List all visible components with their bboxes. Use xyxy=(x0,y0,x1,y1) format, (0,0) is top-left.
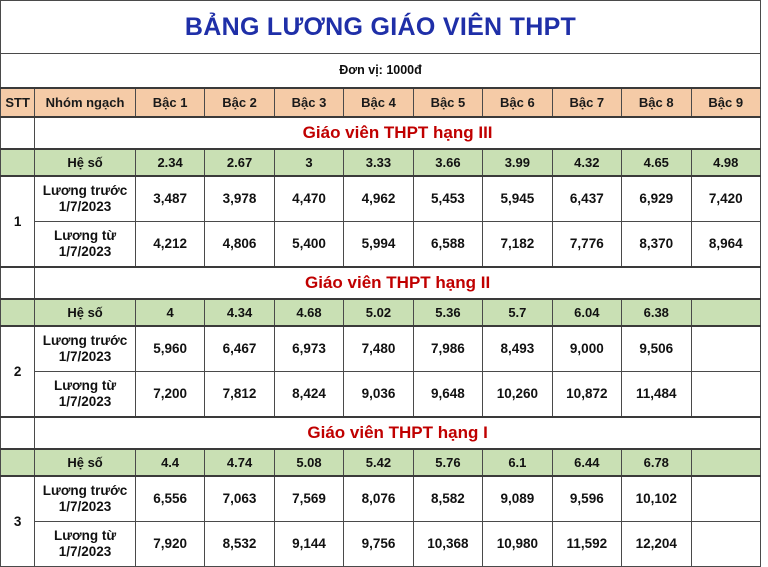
section-title: Giáo viên THPT hạng II xyxy=(35,267,761,299)
row-label-before: Lương trước1/7/2023 xyxy=(35,326,136,372)
salary-cell[interactable]: 10,260 xyxy=(483,372,552,418)
coefficient-cell-empty[interactable] xyxy=(691,449,761,476)
salary-cell[interactable]: 7,200 xyxy=(135,372,204,418)
coefficient-cell[interactable]: 5.36 xyxy=(413,299,482,326)
salary-cell[interactable]: 5,400 xyxy=(274,222,343,268)
row-label-before: Lương trước1/7/2023 xyxy=(35,476,136,522)
salary-cell[interactable]: 7,480 xyxy=(344,326,413,372)
salary-cell[interactable]: 6,973 xyxy=(274,326,343,372)
salary-cell[interactable]: 9,036 xyxy=(344,372,413,418)
column-header-bc-4[interactable]: Bậc 4 xyxy=(344,88,413,117)
salary-cell[interactable]: 4,470 xyxy=(274,176,343,222)
salary-after-row: Lương từ1/7/20234,2124,8065,4005,9946,58… xyxy=(1,222,761,268)
section-title: Giáo viên THPT hạng III xyxy=(35,117,761,149)
salary-cell[interactable]: 4,962 xyxy=(344,176,413,222)
coefficient-cell[interactable]: 4.4 xyxy=(135,449,204,476)
column-header-bc-8[interactable]: Bậc 8 xyxy=(622,88,691,117)
coefficient-cell[interactable]: 4.65 xyxy=(622,149,691,176)
salary-cell[interactable]: 11,592 xyxy=(552,522,621,567)
column-header-bc-1[interactable]: Bậc 1 xyxy=(135,88,204,117)
salary-cell[interactable]: 4,806 xyxy=(205,222,274,268)
salary-cell[interactable]: 5,453 xyxy=(413,176,482,222)
coefficient-cell[interactable]: 2.34 xyxy=(135,149,204,176)
salary-cell-empty[interactable] xyxy=(691,476,761,522)
salary-cell[interactable]: 7,063 xyxy=(205,476,274,522)
coefficient-cell[interactable]: 6.38 xyxy=(622,299,691,326)
coefficient-cell[interactable]: 4.74 xyxy=(205,449,274,476)
section-title-text: Giáo viên THPT hạng III xyxy=(35,119,760,147)
salary-cell[interactable]: 8,582 xyxy=(413,476,482,522)
column-header-bc-5[interactable]: Bậc 5 xyxy=(413,88,482,117)
row-label-before: Lương trước1/7/2023 xyxy=(35,176,136,222)
salary-cell[interactable]: 5,994 xyxy=(344,222,413,268)
salary-cell-empty[interactable] xyxy=(691,326,761,372)
salary-cell[interactable]: 5,960 xyxy=(135,326,204,372)
coefficient-row: Hệ số2.342.6733.333.663.994.324.654.98 xyxy=(1,149,761,176)
coefficient-cell[interactable]: 5.02 xyxy=(344,299,413,326)
salary-cell[interactable]: 8,532 xyxy=(205,522,274,567)
salary-cell[interactable]: 7,920 xyxy=(135,522,204,567)
coefficient-cell[interactable]: 6.78 xyxy=(622,449,691,476)
row-label-after: Lương từ1/7/2023 xyxy=(35,372,136,418)
coefficient-cell[interactable]: 6.1 xyxy=(483,449,552,476)
salary-cell[interactable]: 7,986 xyxy=(413,326,482,372)
column-header-bc-6[interactable]: Bậc 6 xyxy=(483,88,552,117)
salary-after-row: Lương từ1/7/20237,2007,8128,4249,0369,64… xyxy=(1,372,761,418)
column-header-bc-7[interactable]: Bậc 7 xyxy=(552,88,621,117)
row-number: 3 xyxy=(1,476,35,567)
stt-spacer xyxy=(1,267,35,299)
salary-cell[interactable]: 11,484 xyxy=(622,372,691,418)
row-label-coefficient: Hệ số xyxy=(35,449,136,476)
section-title-text: Giáo viên THPT hạng I xyxy=(35,419,760,447)
salary-cell[interactable]: 9,596 xyxy=(552,476,621,522)
salary-cell[interactable]: 6,588 xyxy=(413,222,482,268)
coefficient-cell[interactable]: 6.04 xyxy=(552,299,621,326)
unit-row: Đơn vị: 1000đ xyxy=(1,54,761,89)
coefficient-cell[interactable]: 2.67 xyxy=(205,149,274,176)
salary-cell[interactable]: 6,929 xyxy=(622,176,691,222)
coefficient-cell[interactable]: 4.32 xyxy=(552,149,621,176)
section-title-text: Giáo viên THPT hạng II xyxy=(35,269,760,297)
stt-spacer xyxy=(1,417,35,449)
coefficient-cell[interactable]: 5.7 xyxy=(483,299,552,326)
salary-cell[interactable]: 7,182 xyxy=(483,222,552,268)
page-title-text: BẢNG LƯƠNG GIÁO VIÊN THPT xyxy=(1,1,760,53)
salary-before-row: 2Lương trước1/7/20235,9606,4676,9737,480… xyxy=(1,326,761,372)
salary-cell[interactable]: 9,000 xyxy=(552,326,621,372)
salary-cell[interactable]: 3,978 xyxy=(205,176,274,222)
row-label-coefficient: Hệ số xyxy=(35,299,136,326)
column-header-stt[interactable]: STT xyxy=(1,88,35,117)
page-title: BẢNG LƯƠNG GIÁO VIÊN THPT xyxy=(1,1,761,54)
salary-cell[interactable]: 10,872 xyxy=(552,372,621,418)
coefficient-cell[interactable]: 4.34 xyxy=(205,299,274,326)
salary-cell[interactable]: 8,370 xyxy=(622,222,691,268)
salary-cell[interactable]: 9,648 xyxy=(413,372,482,418)
coefficient-row: Hệ số4.44.745.085.425.766.16.446.78 xyxy=(1,449,761,476)
salary-cell-empty[interactable] xyxy=(691,522,761,567)
title-row: BẢNG LƯƠNG GIÁO VIÊN THPT xyxy=(1,1,761,54)
salary-cell[interactable]: 7,812 xyxy=(205,372,274,418)
salary-after-row: Lương từ1/7/20237,9208,5329,1449,75610,3… xyxy=(1,522,761,567)
section-title-row: Giáo viên THPT hạng II xyxy=(1,267,761,299)
coefficient-cell[interactable]: 5.76 xyxy=(413,449,482,476)
section-title-row: Giáo viên THPT hạng III xyxy=(1,117,761,149)
salary-table: BẢNG LƯƠNG GIÁO VIÊN THPTĐơn vị: 1000đST… xyxy=(0,0,761,567)
unit-note: Đơn vị: 1000đ xyxy=(1,54,761,89)
salary-before-row: 3Lương trước1/7/20236,5567,0637,5698,076… xyxy=(1,476,761,522)
coefficient-cell[interactable]: 4 xyxy=(135,299,204,326)
table-header-row: STTNhóm ngạchBậc 1Bậc 2Bậc 3Bậc 4Bậc 5Bậ… xyxy=(1,88,761,117)
section-title-row: Giáo viên THPT hạng I xyxy=(1,417,761,449)
coefficient-row: Hệ số44.344.685.025.365.76.046.38 xyxy=(1,299,761,326)
salary-cell[interactable]: 7,420 xyxy=(691,176,761,222)
salary-cell[interactable]: 4,212 xyxy=(135,222,204,268)
salary-cell[interactable]: 12,204 xyxy=(622,522,691,567)
coefficient-cell[interactable]: 5.42 xyxy=(344,449,413,476)
coefficient-cell[interactable]: 5.08 xyxy=(274,449,343,476)
salary-cell[interactable]: 9,144 xyxy=(274,522,343,567)
column-header-bc-3[interactable]: Bậc 3 xyxy=(274,88,343,117)
salary-cell[interactable]: 8,076 xyxy=(344,476,413,522)
stt-spacer xyxy=(1,449,35,476)
stt-spacer xyxy=(1,117,35,149)
salary-cell[interactable]: 9,089 xyxy=(483,476,552,522)
coefficient-cell[interactable]: 4.68 xyxy=(274,299,343,326)
column-header-bc-2[interactable]: Bậc 2 xyxy=(205,88,274,117)
coefficient-cell-empty[interactable] xyxy=(691,299,761,326)
salary-cell[interactable]: 10,102 xyxy=(622,476,691,522)
salary-cell[interactable]: 8,964 xyxy=(691,222,761,268)
salary-cell[interactable]: 10,980 xyxy=(483,522,552,567)
salary-cell-empty[interactable] xyxy=(691,372,761,418)
salary-cell[interactable]: 3,487 xyxy=(135,176,204,222)
column-header-nhm-ngch[interactable]: Nhóm ngạch xyxy=(35,88,136,117)
coefficient-cell[interactable]: 3.33 xyxy=(344,149,413,176)
salary-cell[interactable]: 5,945 xyxy=(483,176,552,222)
row-label-after: Lương từ1/7/2023 xyxy=(35,222,136,268)
unit-note-text: Đơn vị: 1000đ xyxy=(339,63,422,77)
salary-cell[interactable]: 8,493 xyxy=(483,326,552,372)
coefficient-cell[interactable]: 6.44 xyxy=(552,449,621,476)
salary-cell[interactable]: 8,424 xyxy=(274,372,343,418)
salary-cell[interactable]: 6,556 xyxy=(135,476,204,522)
salary-cell[interactable]: 10,368 xyxy=(413,522,482,567)
coefficient-cell[interactable]: 3.99 xyxy=(483,149,552,176)
stt-spacer xyxy=(1,299,35,326)
section-title: Giáo viên THPT hạng I xyxy=(35,417,761,449)
salary-cell[interactable]: 6,467 xyxy=(205,326,274,372)
stt-spacer xyxy=(1,149,35,176)
salary-before-row: 1Lương trước1/7/20233,4873,9784,4704,962… xyxy=(1,176,761,222)
coefficient-cell[interactable]: 3 xyxy=(274,149,343,176)
row-label-coefficient: Hệ số xyxy=(35,149,136,176)
row-number: 1 xyxy=(1,176,35,267)
column-header-bc-9[interactable]: Bậc 9 xyxy=(691,88,761,117)
salary-cell[interactable]: 7,776 xyxy=(552,222,621,268)
salary-cell[interactable]: 9,506 xyxy=(622,326,691,372)
row-label-after: Lương từ1/7/2023 xyxy=(35,522,136,567)
coefficient-cell[interactable]: 3.66 xyxy=(413,149,482,176)
coefficient-cell[interactable]: 4.98 xyxy=(691,149,761,176)
salary-cell[interactable]: 7,569 xyxy=(274,476,343,522)
salary-cell[interactable]: 6,437 xyxy=(552,176,621,222)
salary-cell[interactable]: 9,756 xyxy=(344,522,413,567)
salary-table-sheet: BẢNG LƯƠNG GIÁO VIÊN THPTĐơn vị: 1000đST… xyxy=(0,0,768,541)
row-number: 2 xyxy=(1,326,35,417)
